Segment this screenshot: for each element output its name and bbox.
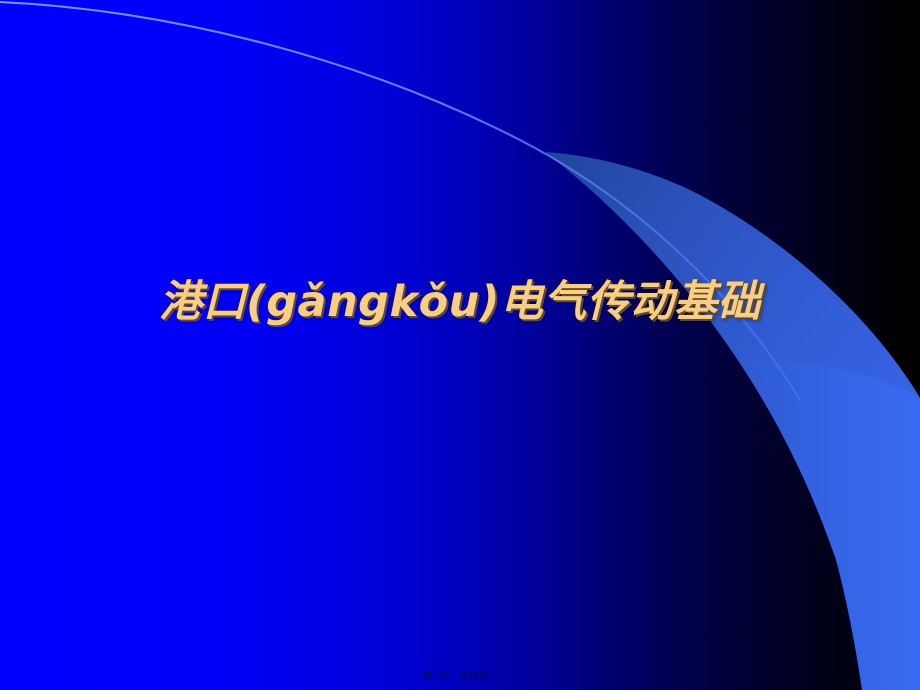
presentation-slide: 港口(gǎngkǒu)电气传动基础 第一页，共54页。 [0,0,920,690]
page-number-indicator: 第一页，共54页。 [423,672,497,682]
slide-footer-container: 第一页，共54页。 [0,666,920,684]
slide-decorative-artwork [0,0,920,690]
